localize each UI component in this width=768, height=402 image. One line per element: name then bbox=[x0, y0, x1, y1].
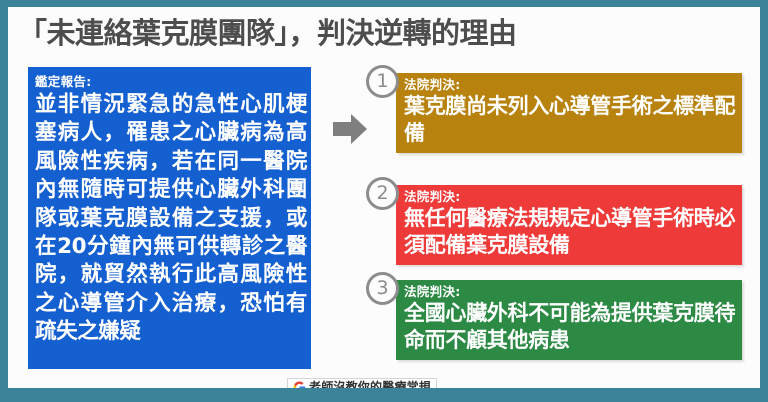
ruling-number-badge-2: 2 bbox=[366, 177, 399, 210]
expert-report-label: 鑑定報告: bbox=[35, 73, 307, 90]
ruling-label-2: 法院判決: bbox=[404, 189, 736, 205]
slide-frame: 「未連絡葉克膜團隊」，判決逆轉的理由 鑑定報告: 並非情況緊急的急性心肌梗塞病人… bbox=[0, 0, 768, 402]
ruling-number-badge-1: 1 bbox=[366, 65, 399, 98]
ruling-number-badge-3: 3 bbox=[366, 272, 399, 305]
ruling-card-1: 法院判決: 葉克膜尚未列入心導管手術之標準配備 bbox=[396, 73, 742, 153]
expert-report-panel: 鑑定報告: 並非情況緊急的急性心肌梗塞病人，罹患之心臟病為高風險性疾病，若在同一… bbox=[28, 67, 311, 369]
expert-report-body: 並非情況緊急的急性心肌梗塞病人，罹患之心臟病為高風險性疾病，若在同一醫院內無隨時… bbox=[35, 91, 307, 347]
footer-text: 老師沒教你的醫療常規 bbox=[309, 380, 431, 388]
ruling-label-1: 法院判決: bbox=[404, 77, 736, 93]
footer-attribution-badge: 老師沒教你的醫療常規 bbox=[287, 378, 437, 388]
page-title: 「未連絡葉克膜團隊」，判決逆轉的理由 bbox=[18, 13, 738, 53]
ruling-card-3: 法院判決: 全國心臟外科不可能為提供葉克膜待命而不顧其他病患 bbox=[396, 280, 742, 360]
google-g-icon bbox=[293, 381, 306, 388]
ruling-card-2: 法院判決: 無任何醫療法規規定心導管手術時必須配備葉克膜設備 bbox=[396, 185, 742, 265]
ruling-text-2: 無任何醫療法規規定心導管手術時必須配備葉克膜設備 bbox=[404, 205, 736, 259]
slide-canvas: 「未連絡葉克膜團隊」，判決逆轉的理由 鑑定報告: 並非情況緊急的急性心肌梗塞病人… bbox=[8, 7, 760, 388]
ruling-label-3: 法院判決: bbox=[404, 284, 736, 300]
ruling-text-3: 全國心臟外科不可能為提供葉克膜待命而不顧其他病患 bbox=[404, 300, 736, 354]
ruling-text-1: 葉克膜尚未列入心導管手術之標準配備 bbox=[404, 93, 736, 147]
arrow-right-icon bbox=[333, 113, 367, 145]
